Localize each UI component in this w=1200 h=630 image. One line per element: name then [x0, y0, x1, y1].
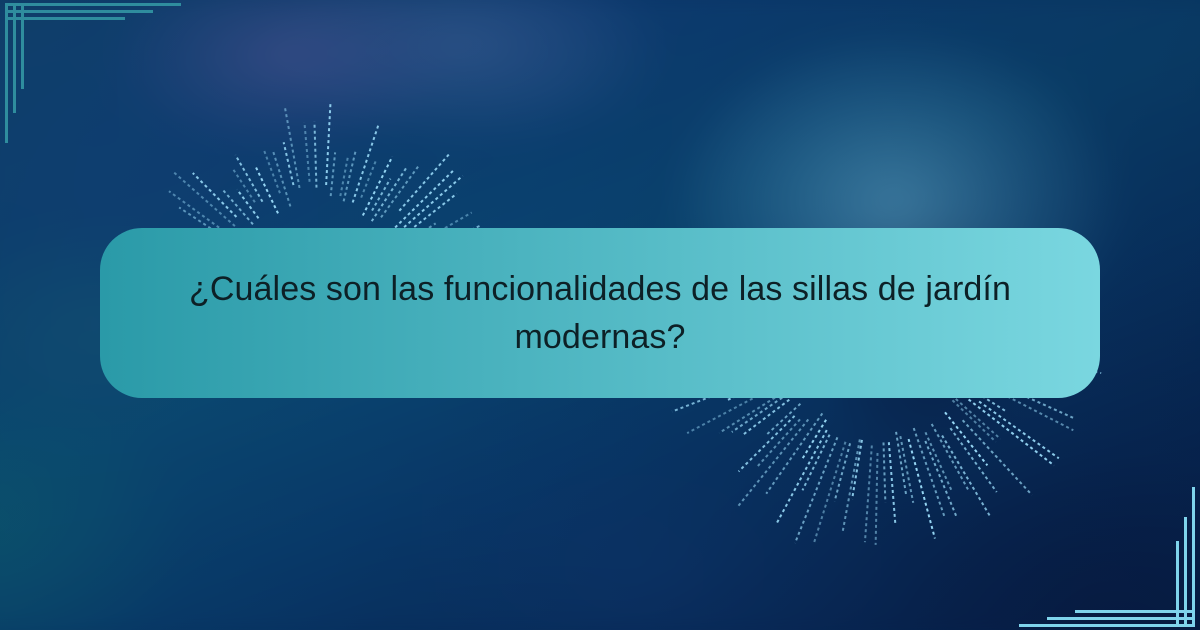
corner-bracket-top-left-v-line-1	[5, 3, 8, 143]
corner-bracket-bottom-right-v-line-3	[1176, 541, 1179, 627]
corner-bracket-top-left-h-line-2	[5, 10, 153, 13]
corner-bracket-top-left-v-line-2	[13, 3, 16, 113]
question-card: ¿Cuáles son las funcionalidades de las s…	[100, 228, 1100, 398]
corner-bracket-top-left	[0, 0, 200, 200]
corner-bracket-bottom-right-h-line-1	[1019, 624, 1195, 627]
corner-bracket-bottom-right-h-line-2	[1047, 617, 1195, 620]
corner-bracket-top-left-v-line-3	[21, 3, 24, 89]
corner-bracket-bottom-right-v-line-2	[1184, 517, 1187, 627]
social-card-canvas: ¿Cuáles son las funcionalidades de las s…	[0, 0, 1200, 630]
corner-bracket-bottom-right-v-line-1	[1192, 487, 1195, 627]
question-text: ¿Cuáles son las funcionalidades de las s…	[160, 265, 1040, 362]
corner-bracket-top-left-h-line-1	[5, 3, 181, 6]
corner-bracket-bottom-right	[1000, 430, 1200, 630]
